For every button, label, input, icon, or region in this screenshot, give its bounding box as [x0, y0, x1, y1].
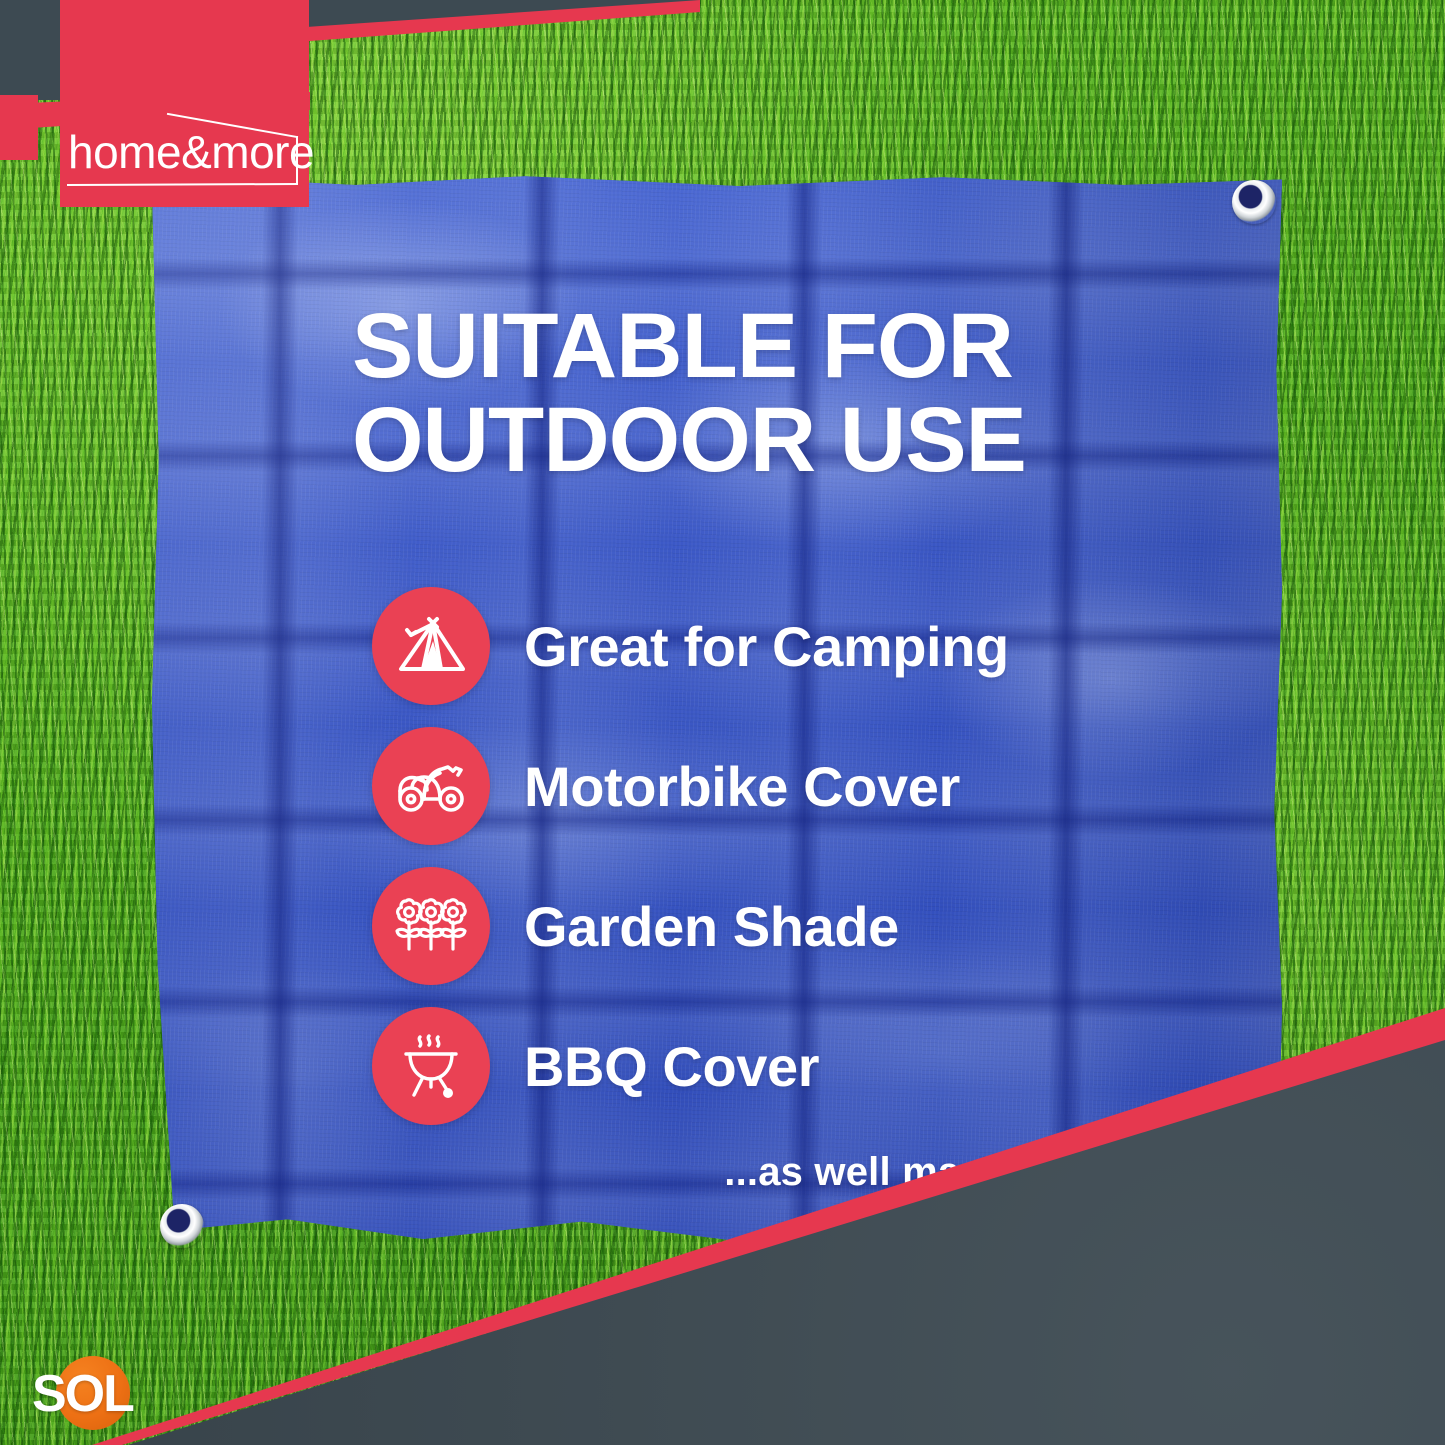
feature-item: Great for Camping: [372, 576, 1192, 716]
brand-logo-text: home&more: [68, 125, 314, 179]
left-red-strip: [0, 95, 38, 160]
feature-list: Great for Camping: [372, 576, 1192, 1136]
grommet-top-right-icon: [1232, 180, 1276, 224]
feature-label: Great for Camping: [524, 614, 1009, 679]
bbq-grill-icon: [398, 1033, 464, 1099]
feature-item: Garden Shade: [372, 856, 1192, 996]
scooter-icon: [394, 757, 468, 815]
feature-label: Motorbike Cover: [524, 754, 960, 819]
tent-icon: [395, 615, 467, 677]
feature-label: Garden Shade: [524, 894, 899, 959]
headline: SUITABLE FOR OUTDOOR USE: [352, 300, 1152, 488]
flowers-icon: [392, 897, 470, 955]
feature-icon-badge: [372, 587, 490, 705]
product-marketing-banner: SUITABLE FOR OUTDOOR USE: [0, 0, 1445, 1445]
sol-logo: SOL: [26, 1350, 158, 1434]
headline-line-1: SUITABLE FOR: [352, 300, 1152, 394]
headline-line-2: OUTDOOR USE: [352, 394, 1152, 488]
feature-icon-badge: [372, 867, 490, 985]
feature-icon-badge: [372, 727, 490, 845]
feature-label: BBQ Cover: [524, 1034, 819, 1099]
feature-icon-badge: [372, 1007, 490, 1125]
feature-item: Motorbike Cover: [372, 716, 1192, 856]
feature-item: BBQ Cover: [372, 996, 1192, 1136]
sol-logo-text: SOL: [32, 1364, 133, 1424]
grommet-bottom-left-icon: [160, 1204, 204, 1248]
